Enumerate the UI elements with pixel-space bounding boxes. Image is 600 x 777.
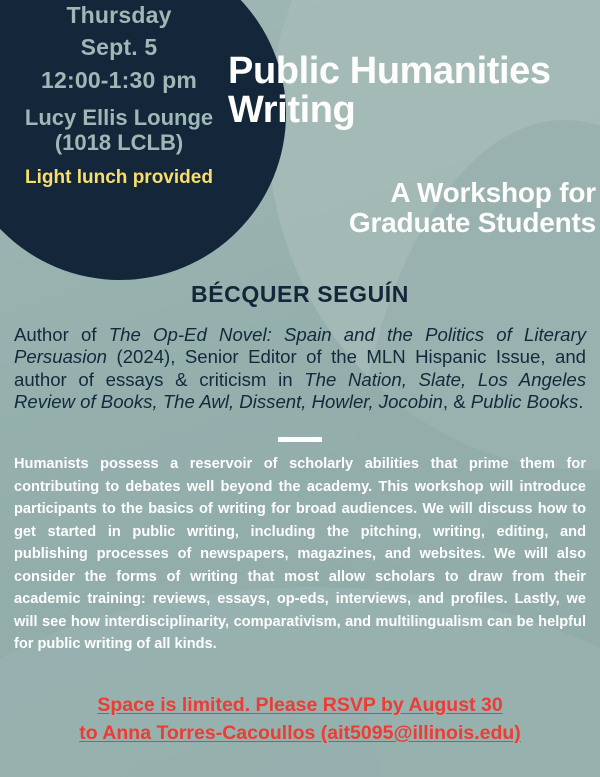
subtitle-line-1: A Workshop for: [228, 178, 596, 208]
poster-subtitle: A Workshop for Graduate Students: [228, 178, 596, 238]
speaker-bio: Author of The Op-Ed Novel: Spain and the…: [14, 324, 586, 414]
event-poster: Thursday Sept. 5 12:00-1:30 pm Lucy Elli…: [0, 0, 600, 777]
speaker-name: BÉCQUER SEGUÍN: [0, 281, 600, 308]
section-divider: [278, 437, 322, 442]
title-line-1: Public Humanities: [228, 52, 596, 91]
event-venue-line2: (1018 LCLB): [0, 131, 274, 156]
rsvp-line-2[interactable]: to Anna Torres-Cacoullos (ait5095@illino…: [0, 720, 600, 748]
poster-title: Public Humanities Writing: [228, 52, 596, 130]
workshop-description: Humanists possess a reservoir of scholar…: [14, 453, 586, 656]
event-day: Thursday: [0, 4, 274, 27]
subtitle-line-2: Graduate Students: [228, 208, 596, 238]
title-line-2: Writing: [228, 91, 596, 130]
rsvp-line-1[interactable]: Space is limited. Please RSVP by August …: [0, 692, 600, 720]
rsvp-note[interactable]: Space is limited. Please RSVP by August …: [0, 692, 600, 747]
